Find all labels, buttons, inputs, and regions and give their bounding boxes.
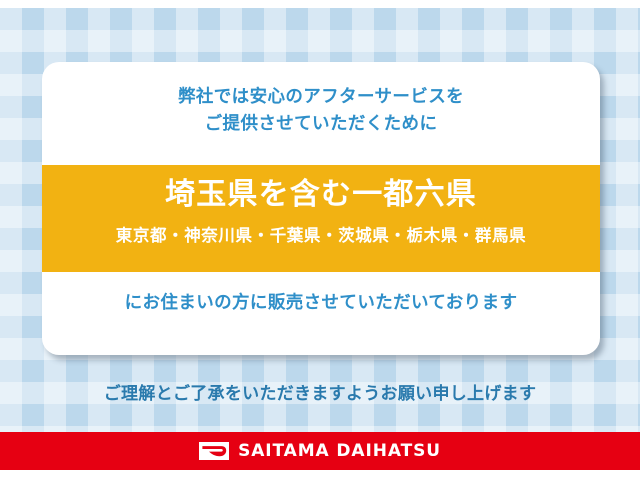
card-top-line-2: ご提供させていただくために	[42, 111, 600, 138]
card-top-text: 弊社では安心のアフターサービスを ご提供させていただくために	[42, 84, 600, 138]
notice-card: 弊社では安心のアフターサービスを ご提供させていただくために 埼玉県を含む一都六…	[42, 62, 600, 355]
card-bottom-line: にお住まいの方に販売させていただいております	[42, 290, 600, 317]
highlight-band: 埼玉県を含む一都六県 東京都・神奈川県・千葉県・茨城県・栃木県・群馬県	[42, 165, 600, 272]
notice-image: 弊社では安心のアフターサービスを ご提供させていただくために 埼玉県を含む一都六…	[0, 0, 640, 480]
bottom-white-strip	[0, 470, 640, 480]
card-top-line-1: 弊社では安心のアフターサービスを	[42, 84, 600, 111]
closing-line: ご理解とご了承をいただきますようお願い申し上げます	[0, 381, 640, 407]
footer-content: SAITAMA DAIHATSU	[0, 432, 640, 470]
footer-bar: SAITAMA DAIHATSU	[0, 432, 640, 470]
prefecture-list: 東京都・神奈川県・千葉県・茨城県・栃木県・群馬県	[42, 223, 600, 249]
top-white-strip	[0, 0, 640, 8]
daihatsu-logo-icon	[199, 442, 229, 460]
brand-name: SAITAMA DAIHATSU	[238, 441, 441, 461]
highlight-headline: 埼玉県を含む一都六県	[42, 175, 600, 215]
